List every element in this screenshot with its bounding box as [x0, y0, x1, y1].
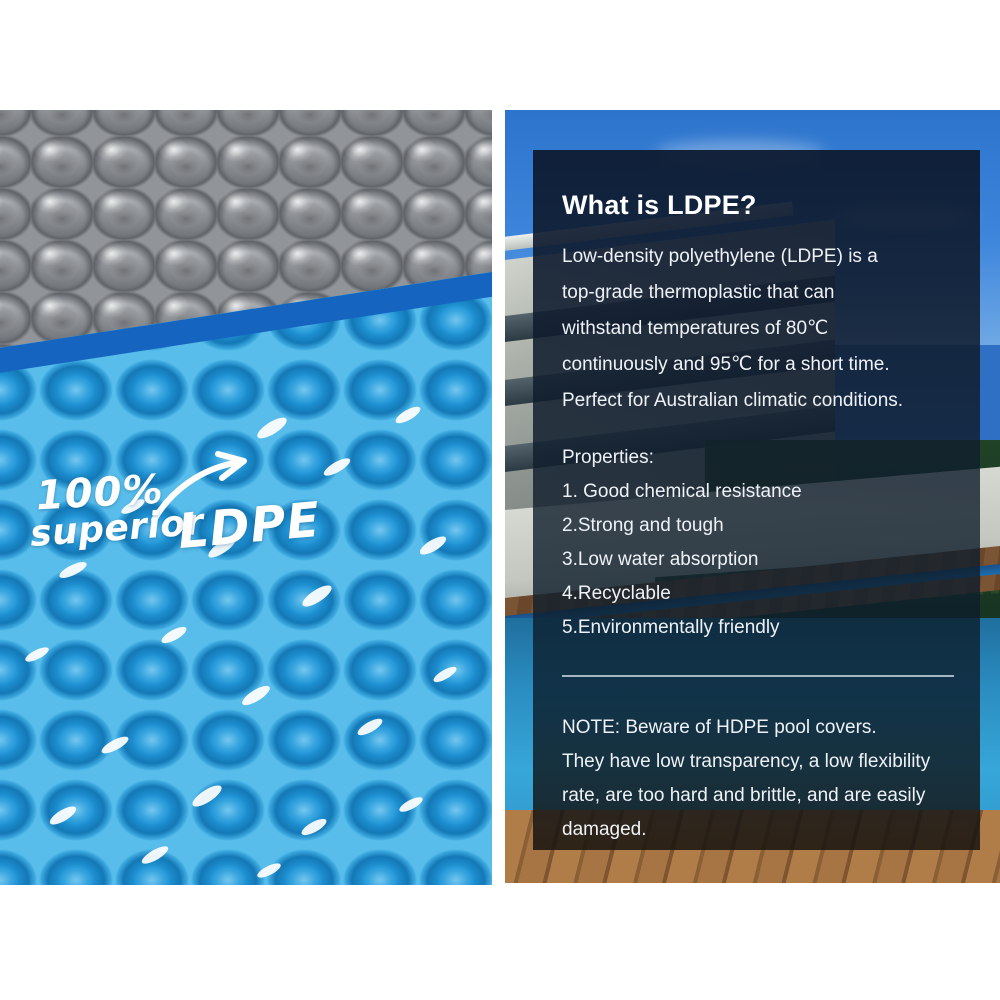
note-text: NOTE: Beware of HDPE pool covers. They h… [562, 711, 954, 847]
list-item: 4.Recyclable [562, 577, 954, 611]
right-info-panel: What is LDPE? Low-density polyethylene (… [505, 110, 1000, 883]
card-title: What is LDPE? [562, 190, 954, 221]
list-item: 2.Strong and tough [562, 509, 954, 543]
description-line: withstand temperatures of 80℃ [562, 311, 954, 347]
note-line: They have low transparency, a low flexib… [562, 745, 954, 779]
properties-label: Properties: [562, 441, 954, 475]
section-divider [562, 675, 954, 677]
left-material-panel: 100% superior LDPE [0, 110, 492, 885]
properties-list: 1. Good chemical resistance 2.Strong and… [562, 475, 954, 645]
product-infographic: 100% superior LDPE What is LDPE? [0, 0, 1000, 1000]
description-line: continuously and 95℃ for a short time. [562, 347, 954, 383]
list-item: 5.Environmentally friendly [562, 611, 954, 645]
description-line: Perfect for Australian climatic conditio… [562, 383, 954, 419]
description-line: Low-density polyethylene (LDPE) is a [562, 239, 954, 275]
note-line: NOTE: Beware of HDPE pool covers. [562, 711, 954, 745]
list-item: 1. Good chemical resistance [562, 475, 954, 509]
note-line: rate, are too hard and brittle, and are … [562, 779, 954, 813]
list-item: 3.Low water absorption [562, 543, 954, 577]
description-line: top-grade thermoplastic that can [562, 275, 954, 311]
ldpe-info-card: What is LDPE? Low-density polyethylene (… [533, 150, 980, 850]
note-line: damaged. [562, 813, 954, 847]
card-description: Low-density polyethylene (LDPE) is a top… [562, 239, 954, 419]
